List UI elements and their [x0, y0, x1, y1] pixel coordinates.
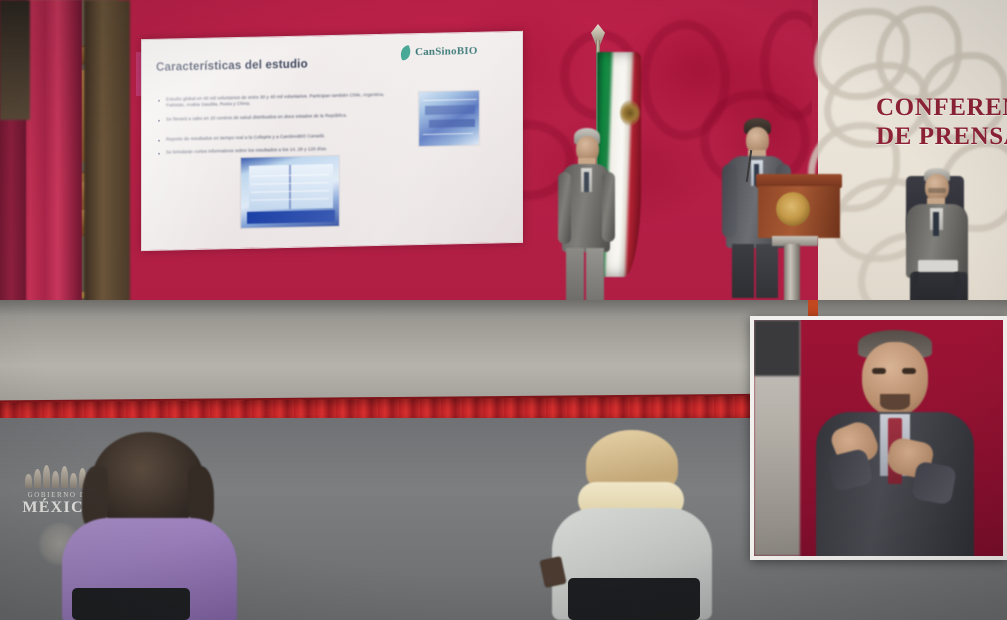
standing-official-left	[556, 128, 618, 328]
flag-coat-of-arms	[620, 100, 640, 126]
conference-title: CONFERENCIA DE PRENSA	[876, 93, 1007, 151]
broadcast-video-frame: CONFERENCIA DE PRENSA Características de…	[0, 0, 1007, 620]
bullet-dot	[158, 100, 160, 102]
ceiling-fixture	[0, 0, 30, 120]
door-frame	[84, 0, 130, 336]
interpreter-beard	[880, 394, 910, 410]
interpreter-sleeve-right	[911, 461, 957, 505]
conference-title-line2: DE PRENSA	[876, 122, 1007, 151]
documents-on-lap	[918, 260, 958, 272]
cansinobio-logo-text: CanSinoBIO	[415, 45, 478, 58]
slide-bullet-3: Reporte de resultados en tiempo real a l…	[166, 131, 402, 143]
projected-slide: Características del estudio CanSinoBIO E…	[141, 31, 523, 251]
slide-title: Características del estudio	[156, 56, 406, 73]
bullet-dot	[158, 120, 160, 122]
slide-bullet-4: Se brindarán cortes informativos sobre l…	[166, 144, 402, 156]
bullet-dot	[158, 140, 160, 142]
national-seal-icon	[776, 192, 810, 226]
slide-bullet-1: Estudio global en 40 mil voluntarios de …	[166, 91, 402, 109]
audience-chair-left	[72, 588, 190, 620]
slide-image-lab-equipment	[418, 90, 480, 147]
cansinobio-logo: CanSinoBIO	[400, 40, 510, 62]
leaf-icon	[398, 44, 412, 60]
slide-image-document-tray	[240, 155, 340, 229]
conference-title-line1: CONFERENCIA	[876, 93, 1007, 122]
bullet-dot	[158, 153, 160, 155]
slide-bullet-2: Se llevará a cabo en 20 centros de salud…	[166, 111, 402, 123]
audience-chair-center	[568, 578, 700, 620]
stage-floor-shadow	[0, 300, 1007, 316]
sign-language-interpreter-inset[interactable]	[750, 316, 1007, 560]
